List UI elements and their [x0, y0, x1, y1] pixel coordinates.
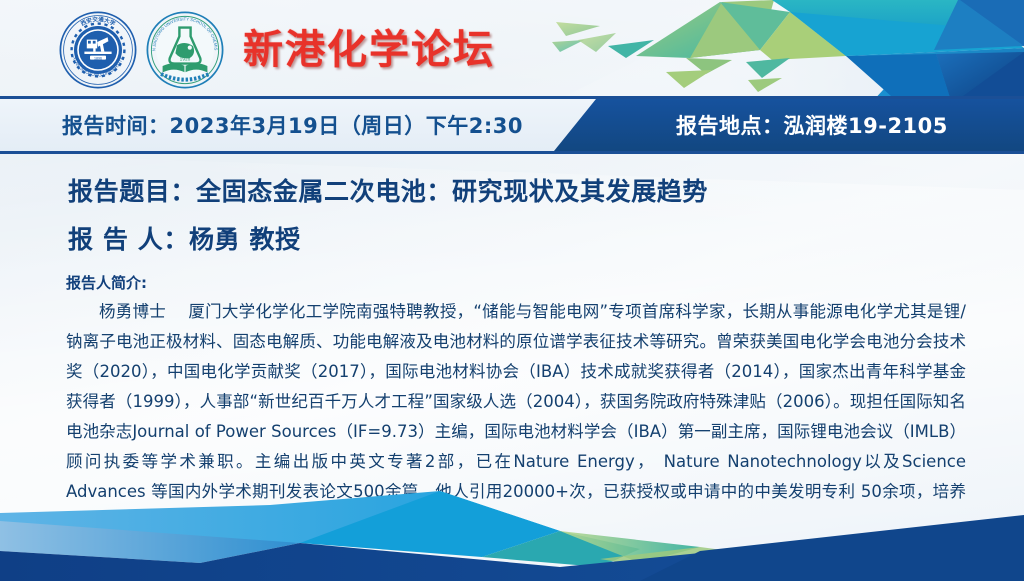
svg-text:西安交通大学: 西安交通大学: [79, 15, 117, 28]
band-top-rule: [0, 96, 1024, 99]
bio-label: 报告人简介:: [66, 272, 1024, 293]
event-location: 报告地点：泓润楼19-2105: [676, 110, 948, 140]
presentation-slide: 1896 西安交通大学 XI'AN JIAOTONG UNIVERSITY 19…: [0, 0, 1024, 581]
svg-text:1896: 1896: [94, 57, 102, 61]
event-time: 报告时间：2023年3月19日（周日）下午2:30: [62, 110, 523, 140]
talk-title: 报告题目：全固态金属二次电池：研究现状及其发展趋势: [68, 172, 1024, 208]
xjtu-school-of-chemistry-logo: 1928 XI'AN JIAOTONG UNIVERSITY SCHOOL OF…: [145, 10, 225, 90]
event-info-band: 报告时间：2023年3月19日（周日）下午2:30 报告地点：泓润楼19-210…: [0, 96, 1024, 154]
forum-brand-title: 新港化学论坛: [243, 17, 495, 75]
slide-header: 1896 西安交通大学 XI'AN JIAOTONG UNIVERSITY 19…: [0, 0, 1024, 96]
speaker-name: 报 告 人：杨勇 教授: [68, 220, 1024, 256]
bottom-polygon-decoration: [0, 471, 1024, 581]
svg-text:1928: 1928: [180, 56, 191, 62]
xian-jiaotong-university-logo: 1896 西安交通大学 XI'AN JIAOTONG UNIVERSITY: [58, 10, 138, 90]
